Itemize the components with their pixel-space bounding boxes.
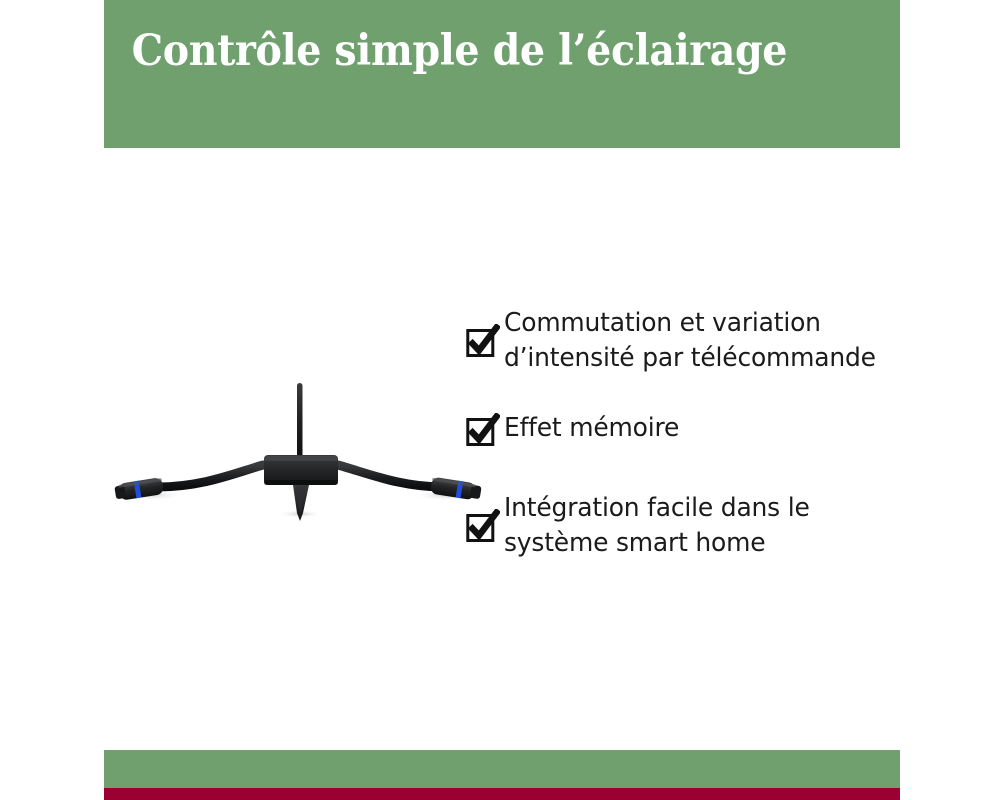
antenna-rod xyxy=(297,383,303,461)
list-item-label: Commutation et variation d’intensité par… xyxy=(504,306,876,375)
checkbox-checked-icon xyxy=(466,509,500,543)
footer-green-band xyxy=(104,750,900,788)
feature-list: Commutation et variation d’intensité par… xyxy=(466,306,936,560)
controller-housing xyxy=(264,455,338,485)
header-band: Contrôle simple de l’éclairage xyxy=(104,0,900,148)
footer-maroon-band xyxy=(104,788,900,800)
cable-left xyxy=(157,465,263,487)
list-item-label: Effet mémoire xyxy=(504,411,679,446)
checkbox-checked-icon xyxy=(466,324,500,358)
product-image xyxy=(95,355,505,530)
list-item: Intégration facile dans le système smart… xyxy=(466,491,936,560)
list-item: Effet mémoire xyxy=(466,411,936,447)
cable-right xyxy=(338,465,443,487)
page-title: Contrôle simple de l’éclairage xyxy=(104,30,787,119)
list-item: Commutation et variation d’intensité par… xyxy=(466,306,936,375)
list-item-label: Intégration facile dans le système smart… xyxy=(504,491,810,560)
checkbox-checked-icon xyxy=(466,413,500,447)
